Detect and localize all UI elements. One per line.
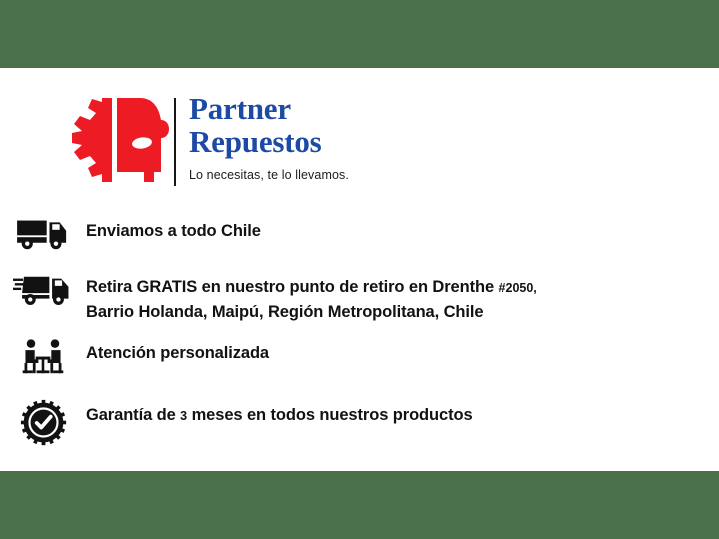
people-at-table-icon (0, 336, 86, 378)
brand-name-line-2: Repuestos (189, 125, 609, 158)
feature-text-attention: Atención personalizada (86, 336, 719, 365)
gear-car-icon (58, 94, 170, 186)
feature-warranty-label-before: Garantía de (86, 406, 180, 424)
feature-row-warranty: Garantía de 3 meses en todos nuestros pr… (0, 398, 719, 448)
feature-text-pickup: Retira GRATIS en nuestro punto de retiro… (86, 270, 719, 324)
feature-row-attention: Atención personalizada (0, 336, 719, 382)
feature-row-shipping: Enviamos a todo Chile (0, 214, 719, 260)
feature-row-pickup: Retira GRATIS en nuestro punto de retiro… (0, 270, 719, 326)
bottom-green-band (0, 471, 719, 539)
feature-shipping-label: Enviamos a todo Chile (86, 222, 261, 240)
brand-name-line-1: Partner (189, 92, 609, 125)
promo-banner: Partner Repuestos Lo necesitas, te lo ll… (0, 0, 719, 539)
delivery-truck-icon (0, 214, 86, 252)
feature-pickup-label: Retira GRATIS en nuestro punto de retiro… (86, 278, 499, 296)
feature-pickup-label-line2: Barrio Holanda, Maipú, Región Metropolit… (86, 303, 483, 321)
logo-divider (174, 98, 176, 186)
brand-tagline: Lo necesitas, te lo llevamos. (189, 167, 609, 183)
logo-text-block: Partner Repuestos Lo necesitas, te lo ll… (189, 92, 609, 183)
guarantee-badge-check-icon (0, 398, 86, 446)
moving-truck-icon (0, 270, 86, 308)
feature-attention-label: Atención personalizada (86, 344, 269, 362)
feature-pickup-street-number: #2050, (499, 281, 537, 295)
feature-text-warranty: Garantía de 3 meses en todos nuestros pr… (86, 398, 719, 428)
feature-text-shipping: Enviamos a todo Chile (86, 214, 719, 243)
feature-warranty-label-after: meses en todos nuestros productos (187, 406, 472, 424)
logo-block: Partner Repuestos Lo necesitas, te lo ll… (0, 92, 719, 192)
top-green-band (0, 0, 719, 68)
